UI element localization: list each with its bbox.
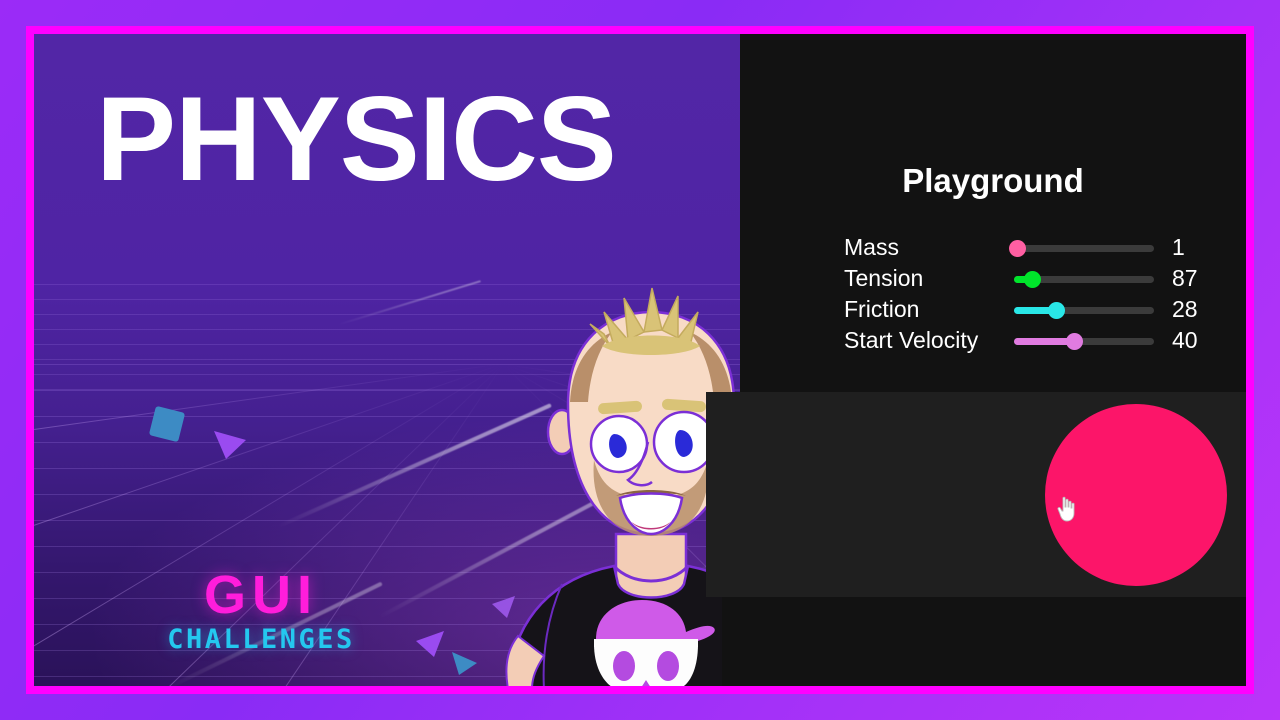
control-row-friction: Friction 28 [844,294,1246,325]
slider-start-velocity[interactable] [1014,331,1154,351]
slider-thumb[interactable] [1024,271,1041,288]
floating-triangle-shape [449,649,479,677]
control-row-mass: Mass 1 [844,232,1246,263]
slider-value-mass: 1 [1172,236,1212,259]
slider-tension[interactable] [1014,269,1154,289]
physics-ball[interactable] [1045,404,1227,586]
slider-thumb[interactable] [1048,302,1065,319]
panel-title: Playground [740,162,1246,200]
app-footer-region [722,597,1246,686]
floating-triangle-shape [412,629,446,659]
slider-label-mass: Mass [844,236,1014,259]
floating-triangle-shape [212,429,248,461]
slider-mass[interactable] [1014,238,1154,258]
slider-friction[interactable] [1014,300,1154,320]
slider-thumb[interactable] [1066,333,1083,350]
slider-value-friction: 28 [1172,298,1212,321]
screenshot-stage: PHYSICS GUI CHALLENGES [0,0,1280,720]
logo-primary-text: GUI [146,568,376,622]
logo-secondary-text: CHALLENGES [146,626,376,653]
slider-label-friction: Friction [844,298,1014,321]
page-title: PHYSICS [96,76,616,202]
control-row-tension: Tension 87 [844,263,1246,294]
slider-thumb[interactable] [1009,240,1026,257]
gui-challenges-logo: GUI CHALLENGES [146,568,376,653]
slider-fill [1014,338,1074,345]
slider-label-tension: Tension [844,267,1014,290]
slider-value-tension: 87 [1172,267,1212,290]
pointer-hand-cursor-icon [1056,496,1078,522]
slider-label-start-velocity: Start Velocity [844,329,1014,352]
slider-value-start-velocity: 40 [1172,329,1212,352]
slide-content: PHYSICS GUI CHALLENGES [34,34,1246,686]
control-row-start-velocity: Start Velocity 40 [844,325,1246,356]
slider-controls-list: Mass 1 Tension 87 Friction [844,232,1246,356]
slider-track[interactable] [1014,245,1154,252]
